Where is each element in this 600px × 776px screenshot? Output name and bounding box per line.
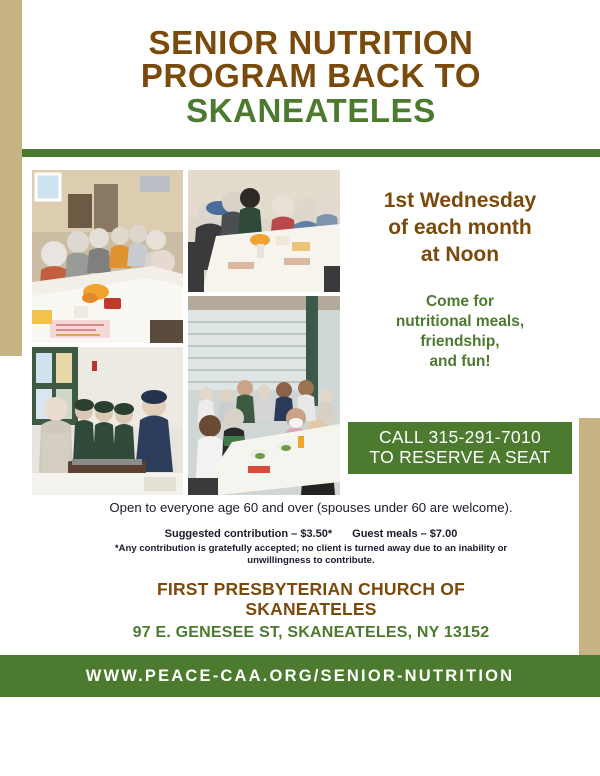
photo-seniors-dining-long-table: [32, 170, 183, 343]
invite-line-2: nutritional meals,: [344, 312, 576, 332]
disclaimer-line-1: *Any contribution is gratefully accepted…: [22, 543, 600, 555]
call-to-reserve-box[interactable]: CALL 315-291-7010 TO RESERVE A SEAT: [348, 422, 572, 474]
call-reserve-line: TO RESERVE A SEAT: [369, 448, 550, 468]
contribution-disclaimer: *Any contribution is gratefully accepted…: [22, 543, 600, 567]
schedule-line-3: at Noon: [344, 242, 576, 269]
schedule-line-2: of each month: [344, 215, 576, 242]
photo-volunteers-serving-food: [32, 347, 183, 495]
tan-accent-bar-left: [0, 0, 22, 356]
title-line-3-location: SKANEATELES: [186, 94, 436, 128]
schedule-info-block: 1st Wednesday of each month at Noon Come…: [344, 188, 576, 372]
schedule-line-1: 1st Wednesday: [344, 188, 576, 215]
contribution-block: Suggested contribution – $3.50*Guest mea…: [22, 528, 600, 567]
contribution-amounts: Suggested contribution – $3.50*Guest mea…: [22, 528, 600, 540]
call-phone-line: CALL 315-291-7010: [379, 428, 541, 448]
header-divider-rule: [22, 149, 600, 157]
invite-line-1: Come for: [344, 292, 576, 312]
website-banner[interactable]: WWW.PEACE-CAA.ORG/SENIOR-NUTRITION: [0, 655, 600, 697]
eligibility-note: Open to everyone age 60 and over (spouse…: [22, 500, 600, 515]
invite-line-4: and fun!: [344, 352, 576, 372]
footer-logos: P E A C E INC EMPOWERING PEOPLE TO THRIV…: [0, 697, 600, 776]
suggested-contribution: Suggested contribution – $3.50*: [165, 528, 332, 540]
photo-seniors-eating-meal: [188, 170, 340, 292]
title-line-2: PROGRAM BACK TO: [141, 59, 481, 93]
photo-collage: [32, 170, 340, 495]
title-line-1: SENIOR NUTRITION: [149, 26, 474, 60]
venue-address: 97 E. GENESEE ST, SKANEATELES, NY 13152: [22, 624, 600, 642]
invite-line-3: friendship,: [344, 332, 576, 352]
venue-name-line-2: SKANEATELES: [22, 600, 600, 620]
venue-name-line-1: FIRST PRESBYTERIAN CHURCH OF: [22, 580, 600, 600]
website-url: WWW.PEACE-CAA.ORG/SENIOR-NUTRITION: [86, 667, 515, 686]
venue-block: FIRST PRESBYTERIAN CHURCH OF SKANEATELES…: [22, 580, 600, 642]
schedule-text: 1st Wednesday of each month at Noon: [344, 188, 576, 269]
flyer-page: SENIOR NUTRITION PROGRAM BACK TO SKANEAT…: [0, 0, 600, 776]
guest-meal-price: Guest meals – $7.00: [352, 528, 457, 540]
invite-text: Come for nutritional meals, friendship, …: [344, 292, 576, 373]
disclaimer-line-2: unwillingness to contribute.: [22, 555, 600, 567]
photo-group-dining-pavilion: [188, 296, 340, 495]
flyer-header: SENIOR NUTRITION PROGRAM BACK TO SKANEAT…: [22, 0, 600, 149]
